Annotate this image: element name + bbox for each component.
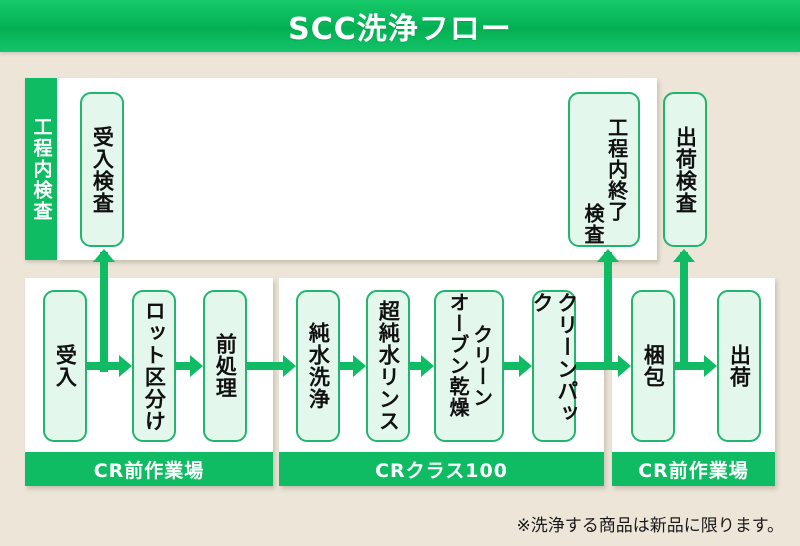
box-clean-oven-dry-label-0: クリーン (469, 324, 493, 408)
box-clean-oven-dry-label-1: オーブン乾燥 (445, 292, 469, 418)
box-shipping-inspection-label-0: 出荷検査 (673, 126, 698, 214)
box-clean-pack-label-0: クリーンパック (529, 292, 579, 440)
box-pretreatment-label-0: 前処理 (213, 333, 238, 399)
arrow-pretreatment-to-pure-water-wash (247, 355, 296, 377)
box-pure-water-wash-label-0: 純水洗浄 (306, 322, 331, 410)
page-title: SCC洗浄フロー (288, 4, 512, 48)
footnote: ※洗浄する商品は新品に限ります。 (516, 511, 784, 536)
box-lot-sorting-label-0: ロット区分け (142, 300, 167, 432)
box-shipping-inspection[interactable]: 出荷検査 (663, 92, 707, 247)
box-incoming-inspection[interactable]: 受入検査 (80, 92, 124, 247)
arrow-pure-water-wash-to-rinse (340, 355, 366, 377)
box-shipping[interactable]: 出荷 (717, 290, 761, 442)
box-clean-oven-dry[interactable]: クリーン オーブン乾燥 (434, 290, 504, 442)
box-packing-label-0: 梱包 (641, 344, 666, 388)
inspection-strip-label: 工程内検査 (32, 117, 51, 222)
box-clean-pack[interactable]: クリーンパック (532, 290, 576, 442)
inspection-strip: 工程内検査 (25, 78, 57, 260)
box-receiving-label-0: 受入 (53, 344, 78, 388)
box-packing[interactable]: 梱包 (631, 290, 675, 442)
scc-cleaning-flow-diagram: { "header": { "title": "SCC洗浄フロー", "bar_… (0, 0, 800, 546)
title-bar: SCC洗浄フロー (0, 0, 800, 52)
box-incoming-inspection-label-0: 受入検査 (90, 126, 115, 214)
arrow-rinse-to-clean-oven-dry (410, 355, 434, 377)
arrow-receiving-to-lot-sorting (87, 355, 132, 377)
box-lot-sorting[interactable]: ロット区分け (132, 290, 176, 442)
box-ultrapure-water-rinse[interactable]: 超純水リンス (366, 290, 410, 442)
box-in-process-final-inspection-label-1: 検査 (580, 203, 604, 245)
group-pre-cr-workshop-2-footer: CR前作業場 (612, 452, 775, 486)
box-pure-water-wash[interactable]: 純水洗浄 (296, 290, 340, 442)
arrow-lot-sorting-to-pretreatment (176, 355, 203, 377)
box-in-process-final-inspection[interactable]: 工程内終了 検査 (568, 92, 640, 247)
box-pretreatment[interactable]: 前処理 (203, 290, 247, 442)
arrow-clean-oven-dry-to-clean-pack (504, 355, 532, 377)
group-cr-class-100-footer: CRクラス100 (279, 452, 604, 486)
arrow-up-incoming-inspection (93, 249, 115, 277)
box-shipping-label-0: 出荷 (727, 344, 752, 388)
arrow-up-in-process-final-inspection (597, 249, 619, 277)
box-in-process-final-inspection-label-0: 工程内終了 (604, 117, 628, 222)
inspection-panel (57, 78, 657, 260)
arrow-up-shipping-inspection (673, 249, 695, 277)
box-ultrapure-water-rinse-label-0: 超純水リンス (376, 300, 401, 432)
box-receiving[interactable]: 受入 (43, 290, 87, 442)
group-pre-cr-workshop-1-footer: CR前作業場 (25, 452, 273, 486)
